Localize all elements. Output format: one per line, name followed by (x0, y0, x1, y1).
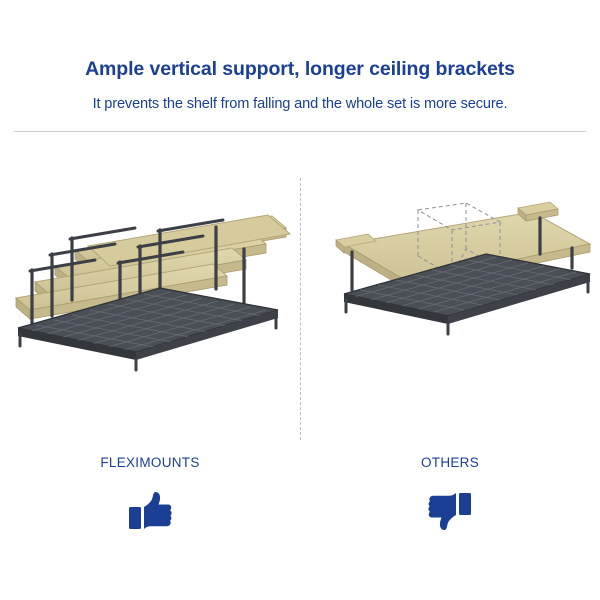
comparison-infographic: Ample vertical support, longer ceiling b… (0, 0, 600, 600)
page-subtitle: It prevents the shelf from falling and t… (0, 96, 600, 112)
illustration-fleximounts (0, 170, 300, 460)
illustration-others (300, 170, 600, 460)
header-divider (14, 131, 586, 132)
caption-fleximounts: FLEXIMOUNTS (0, 455, 300, 470)
page-title: Ample vertical support, longer ceiling b… (0, 58, 600, 81)
thumbs-up-icon (0, 488, 300, 539)
caption-others: OTHERS (300, 455, 600, 470)
thumbs-down-icon (300, 488, 600, 539)
